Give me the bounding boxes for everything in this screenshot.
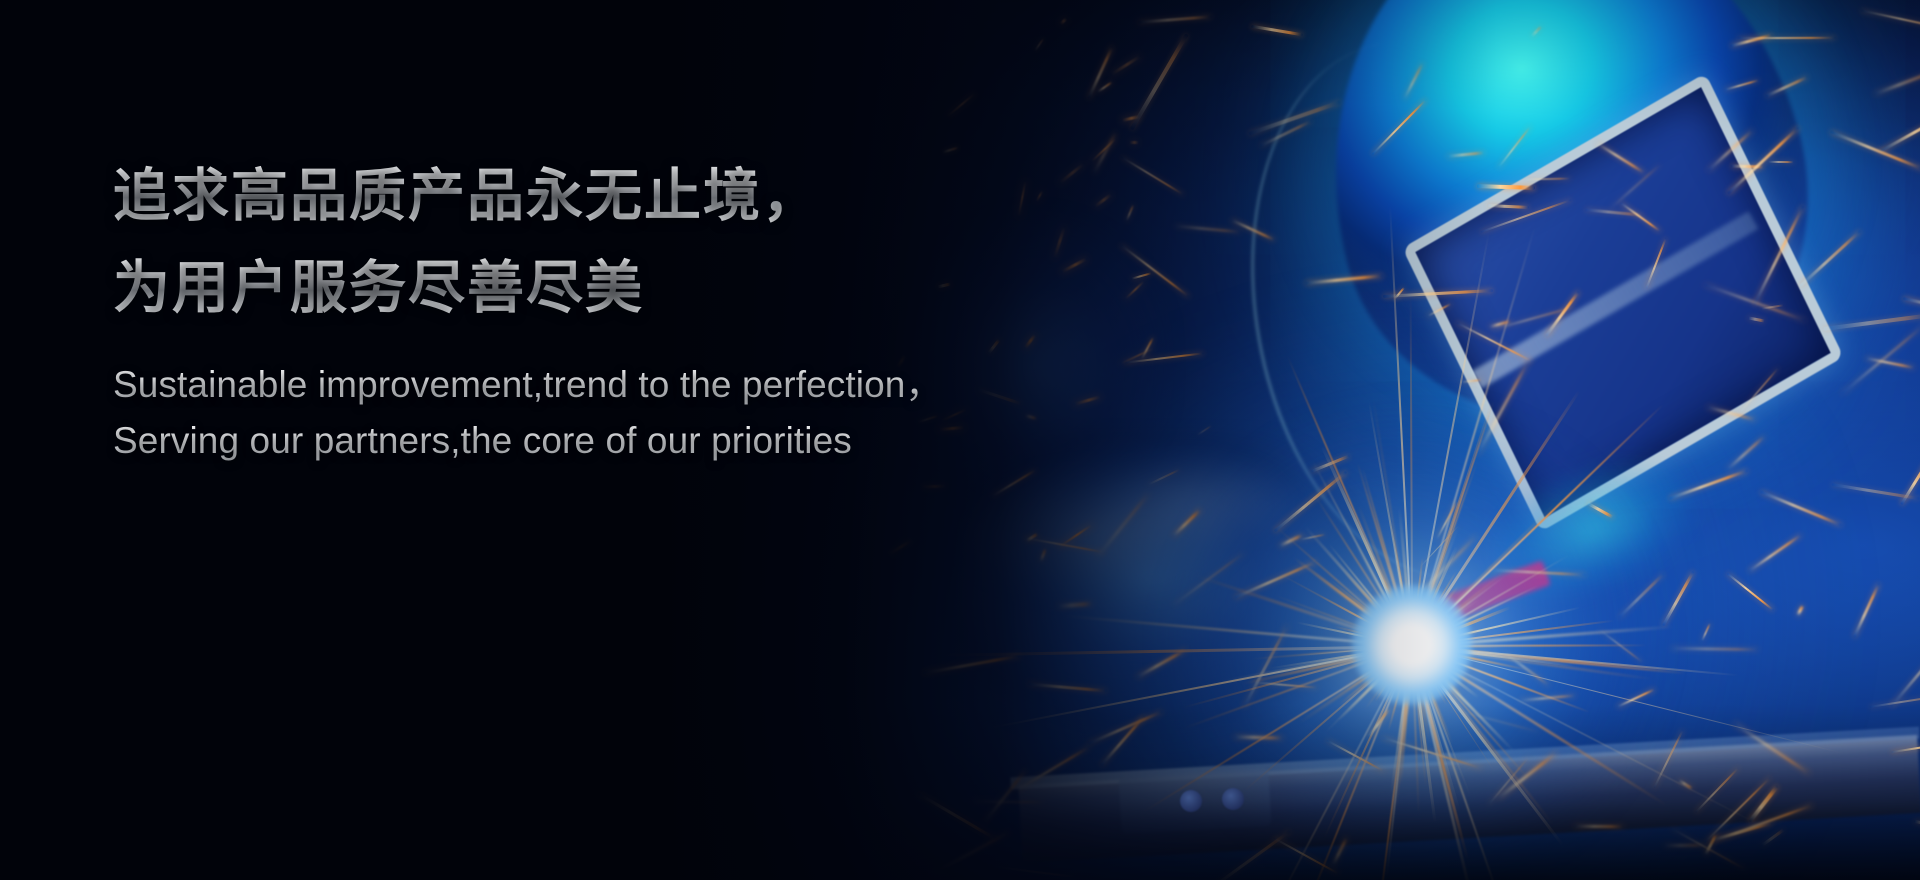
hero-banner: 追求高品质产品永无止境， 为用户服务尽善尽美 Sustainable impro… (0, 0, 1920, 880)
subheadline-en-line-1: Sustainable improvement,trend to the per… (113, 357, 1113, 413)
workpiece-bolt (1180, 790, 1202, 812)
subheadline-en-line-2: Serving our partners,the core of our pri… (113, 413, 1113, 469)
subheadline-en-block: Sustainable improvement,trend to the per… (113, 357, 1113, 469)
welding-arc-core (1352, 585, 1472, 705)
headline-cn-line-2: 为用户服务尽善尽美 (113, 242, 1113, 334)
hero-copy-block: 追求高品质产品永无止境， 为用户服务尽善尽美 Sustainable impro… (113, 150, 1113, 469)
headline-cn-line-1: 追求高品质产品永无止境， (113, 150, 1113, 242)
workpiece-bolt (1222, 788, 1244, 810)
